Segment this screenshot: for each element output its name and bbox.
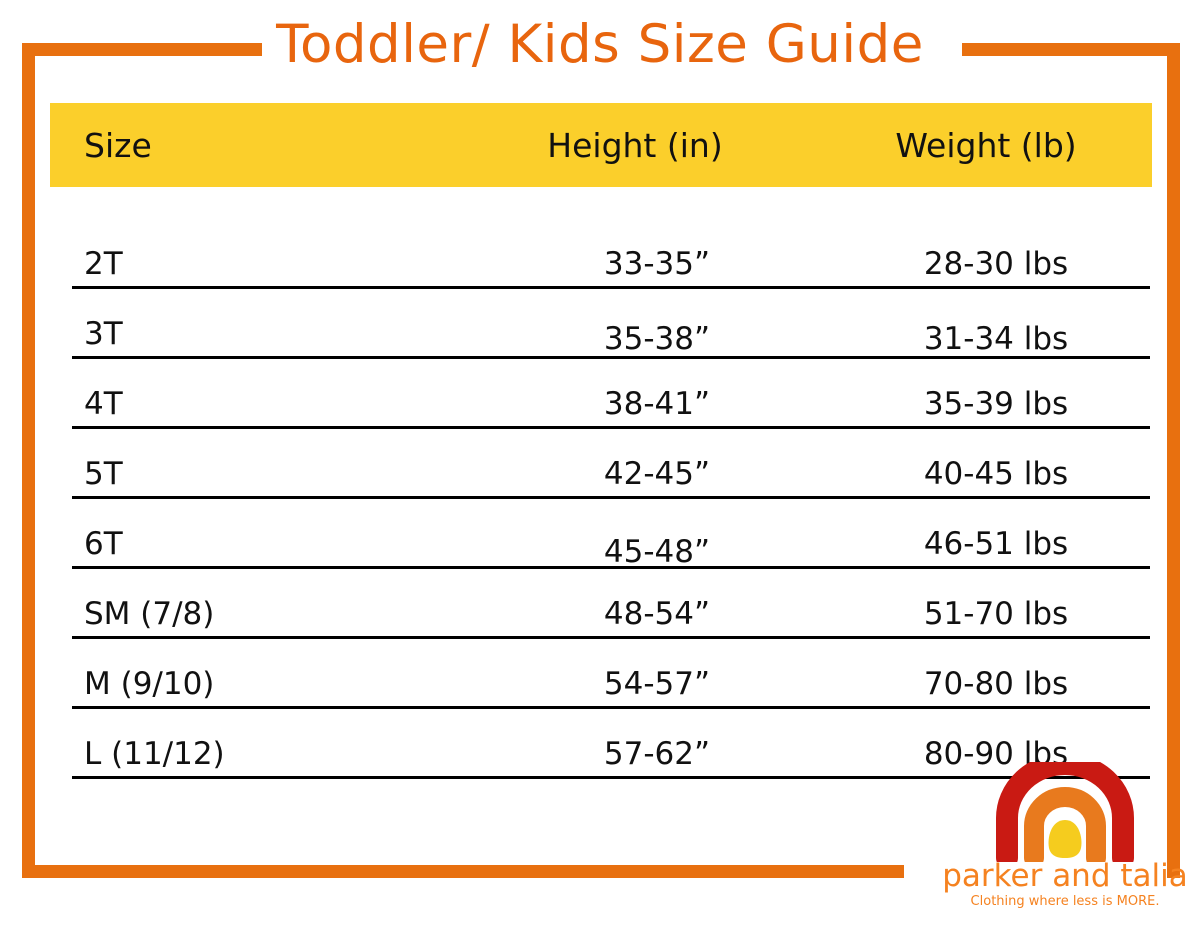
cell-size: L (11/12): [72, 736, 472, 776]
size-guide-table: Size Height (in) Weight (lb) 2T 33-35” 2…: [50, 103, 1152, 779]
table-body: 2T 33-35” 28-30 lbs 3T 35-38” 31-34 lbs …: [50, 219, 1152, 779]
table-row: 4T 38-41” 35-39 lbs: [72, 359, 1150, 429]
cell-size: M (9/10): [72, 666, 472, 706]
cell-height: 48-54”: [472, 596, 842, 636]
page-title: Toddler/ Kids Size Guide: [0, 14, 1200, 75]
column-header-height: Height (in): [450, 126, 820, 165]
table-row: 5T 42-45” 40-45 lbs: [72, 429, 1150, 499]
brand-logo: parker and talia Clothing where less is …: [940, 762, 1190, 909]
size-guide-page: { "title": "Toddler/ Kids Size Guide", "…: [0, 0, 1200, 927]
cell-height: 45-48”: [472, 534, 842, 574]
cell-height: 33-35”: [472, 246, 842, 286]
cell-size: 5T: [72, 456, 472, 496]
table-row: 6T 45-48” 46-51 lbs: [72, 499, 1150, 569]
table-row: 3T 35-38” 31-34 lbs: [72, 289, 1150, 359]
table-row: 2T 33-35” 28-30 lbs: [72, 219, 1150, 289]
cell-size: 6T: [72, 526, 472, 566]
cell-weight: 31-34 lbs: [842, 321, 1150, 361]
cell-height: 38-41”: [472, 386, 842, 426]
cell-height: 57-62”: [472, 736, 842, 776]
column-header-size: Size: [50, 126, 450, 165]
cell-height: 42-45”: [472, 456, 842, 496]
cell-weight: 40-45 lbs: [842, 456, 1150, 496]
cell-size: SM (7/8): [72, 596, 472, 636]
table-header-row: Size Height (in) Weight (lb): [50, 103, 1152, 187]
cell-size: 4T: [72, 386, 472, 426]
cell-size: 2T: [72, 246, 472, 286]
cell-height: 35-38”: [472, 321, 842, 361]
brand-tagline: Clothing where less is MORE.: [940, 894, 1190, 909]
frame-right-rail: [1167, 43, 1180, 878]
table-row: SM (7/8) 48-54” 51-70 lbs: [72, 569, 1150, 639]
table-row: M (9/10) 54-57” 70-80 lbs: [72, 639, 1150, 709]
cell-weight: 28-30 lbs: [842, 246, 1150, 286]
cell-size: 3T: [72, 316, 472, 356]
frame-left-rail: [22, 43, 35, 878]
column-header-weight: Weight (lb): [820, 126, 1152, 165]
brand-name: parker and talia: [940, 860, 1190, 893]
cell-weight: 51-70 lbs: [842, 596, 1150, 636]
cell-weight: 35-39 lbs: [842, 386, 1150, 426]
rainbow-arch-icon: [985, 762, 1145, 862]
cell-weight: 46-51 lbs: [842, 526, 1150, 566]
cell-height: 54-57”: [472, 666, 842, 706]
cell-weight: 70-80 lbs: [842, 666, 1150, 706]
frame-bottom-rail: [22, 865, 904, 878]
